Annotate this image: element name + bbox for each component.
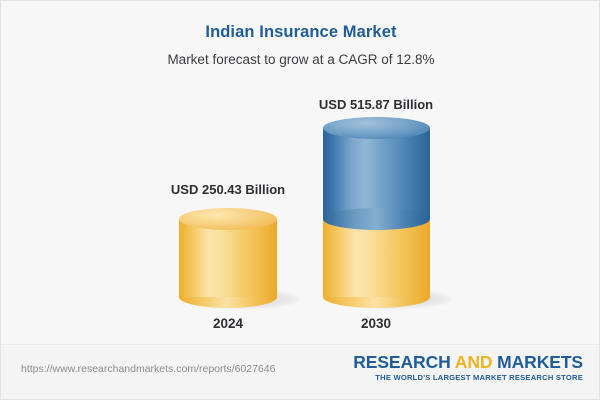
logo-tagline: THE WORLD'S LARGEST MARKET RESEARCH STOR… [353, 372, 583, 383]
bar-group-2024: USD 250.43 Billion 2024 [179, 81, 277, 346]
bar-value-label-2024: USD 250.43 Billion [127, 182, 329, 197]
footer: https://www.researchandmarkets.com/repor… [1, 344, 600, 399]
bar-segment-blue-2030 [323, 128, 430, 219]
bar-cylinder-body-2024 [179, 219, 277, 297]
chart-subtitle: Market forecast to grow at a CAGR of 12.… [1, 52, 600, 67]
logo-wordmark: RESEARCH AND MARKETS [353, 352, 583, 372]
bar-segment-yellow-2030 [323, 219, 430, 297]
bar-value-label-2030: USD 515.87 Billion [275, 97, 477, 112]
chart-card: Indian Insurance Market Market forecast … [0, 0, 600, 400]
logo-word-and: AND [455, 352, 493, 372]
bar-cylinder-top-2030 [323, 117, 430, 139]
bar-cylinder-2030 [323, 117, 430, 308]
research-and-markets-logo[interactable]: RESEARCH AND MARKETS THE WORLD'S LARGEST… [353, 352, 583, 383]
chart-plot-area: USD 250.43 Billion 2024 USD 515.87 Billi… [1, 81, 600, 346]
logo-word-research: RESEARCH [353, 352, 450, 372]
logo-word-markets: MARKETS [497, 352, 583, 372]
chart-title: Indian Insurance Market [1, 23, 600, 42]
report-url[interactable]: https://www.researchandmarkets.com/repor… [21, 363, 275, 375]
bar-category-label-2024: 2024 [153, 316, 303, 331]
bar-group-2030: USD 515.87 Billion 2030 [323, 81, 430, 346]
bar-segment-divider-2030 [323, 208, 430, 230]
bar-cylinder-2024 [179, 208, 277, 308]
bar-category-label-2030: 2030 [301, 316, 451, 331]
bar-cylinder-top-2024 [179, 208, 277, 230]
